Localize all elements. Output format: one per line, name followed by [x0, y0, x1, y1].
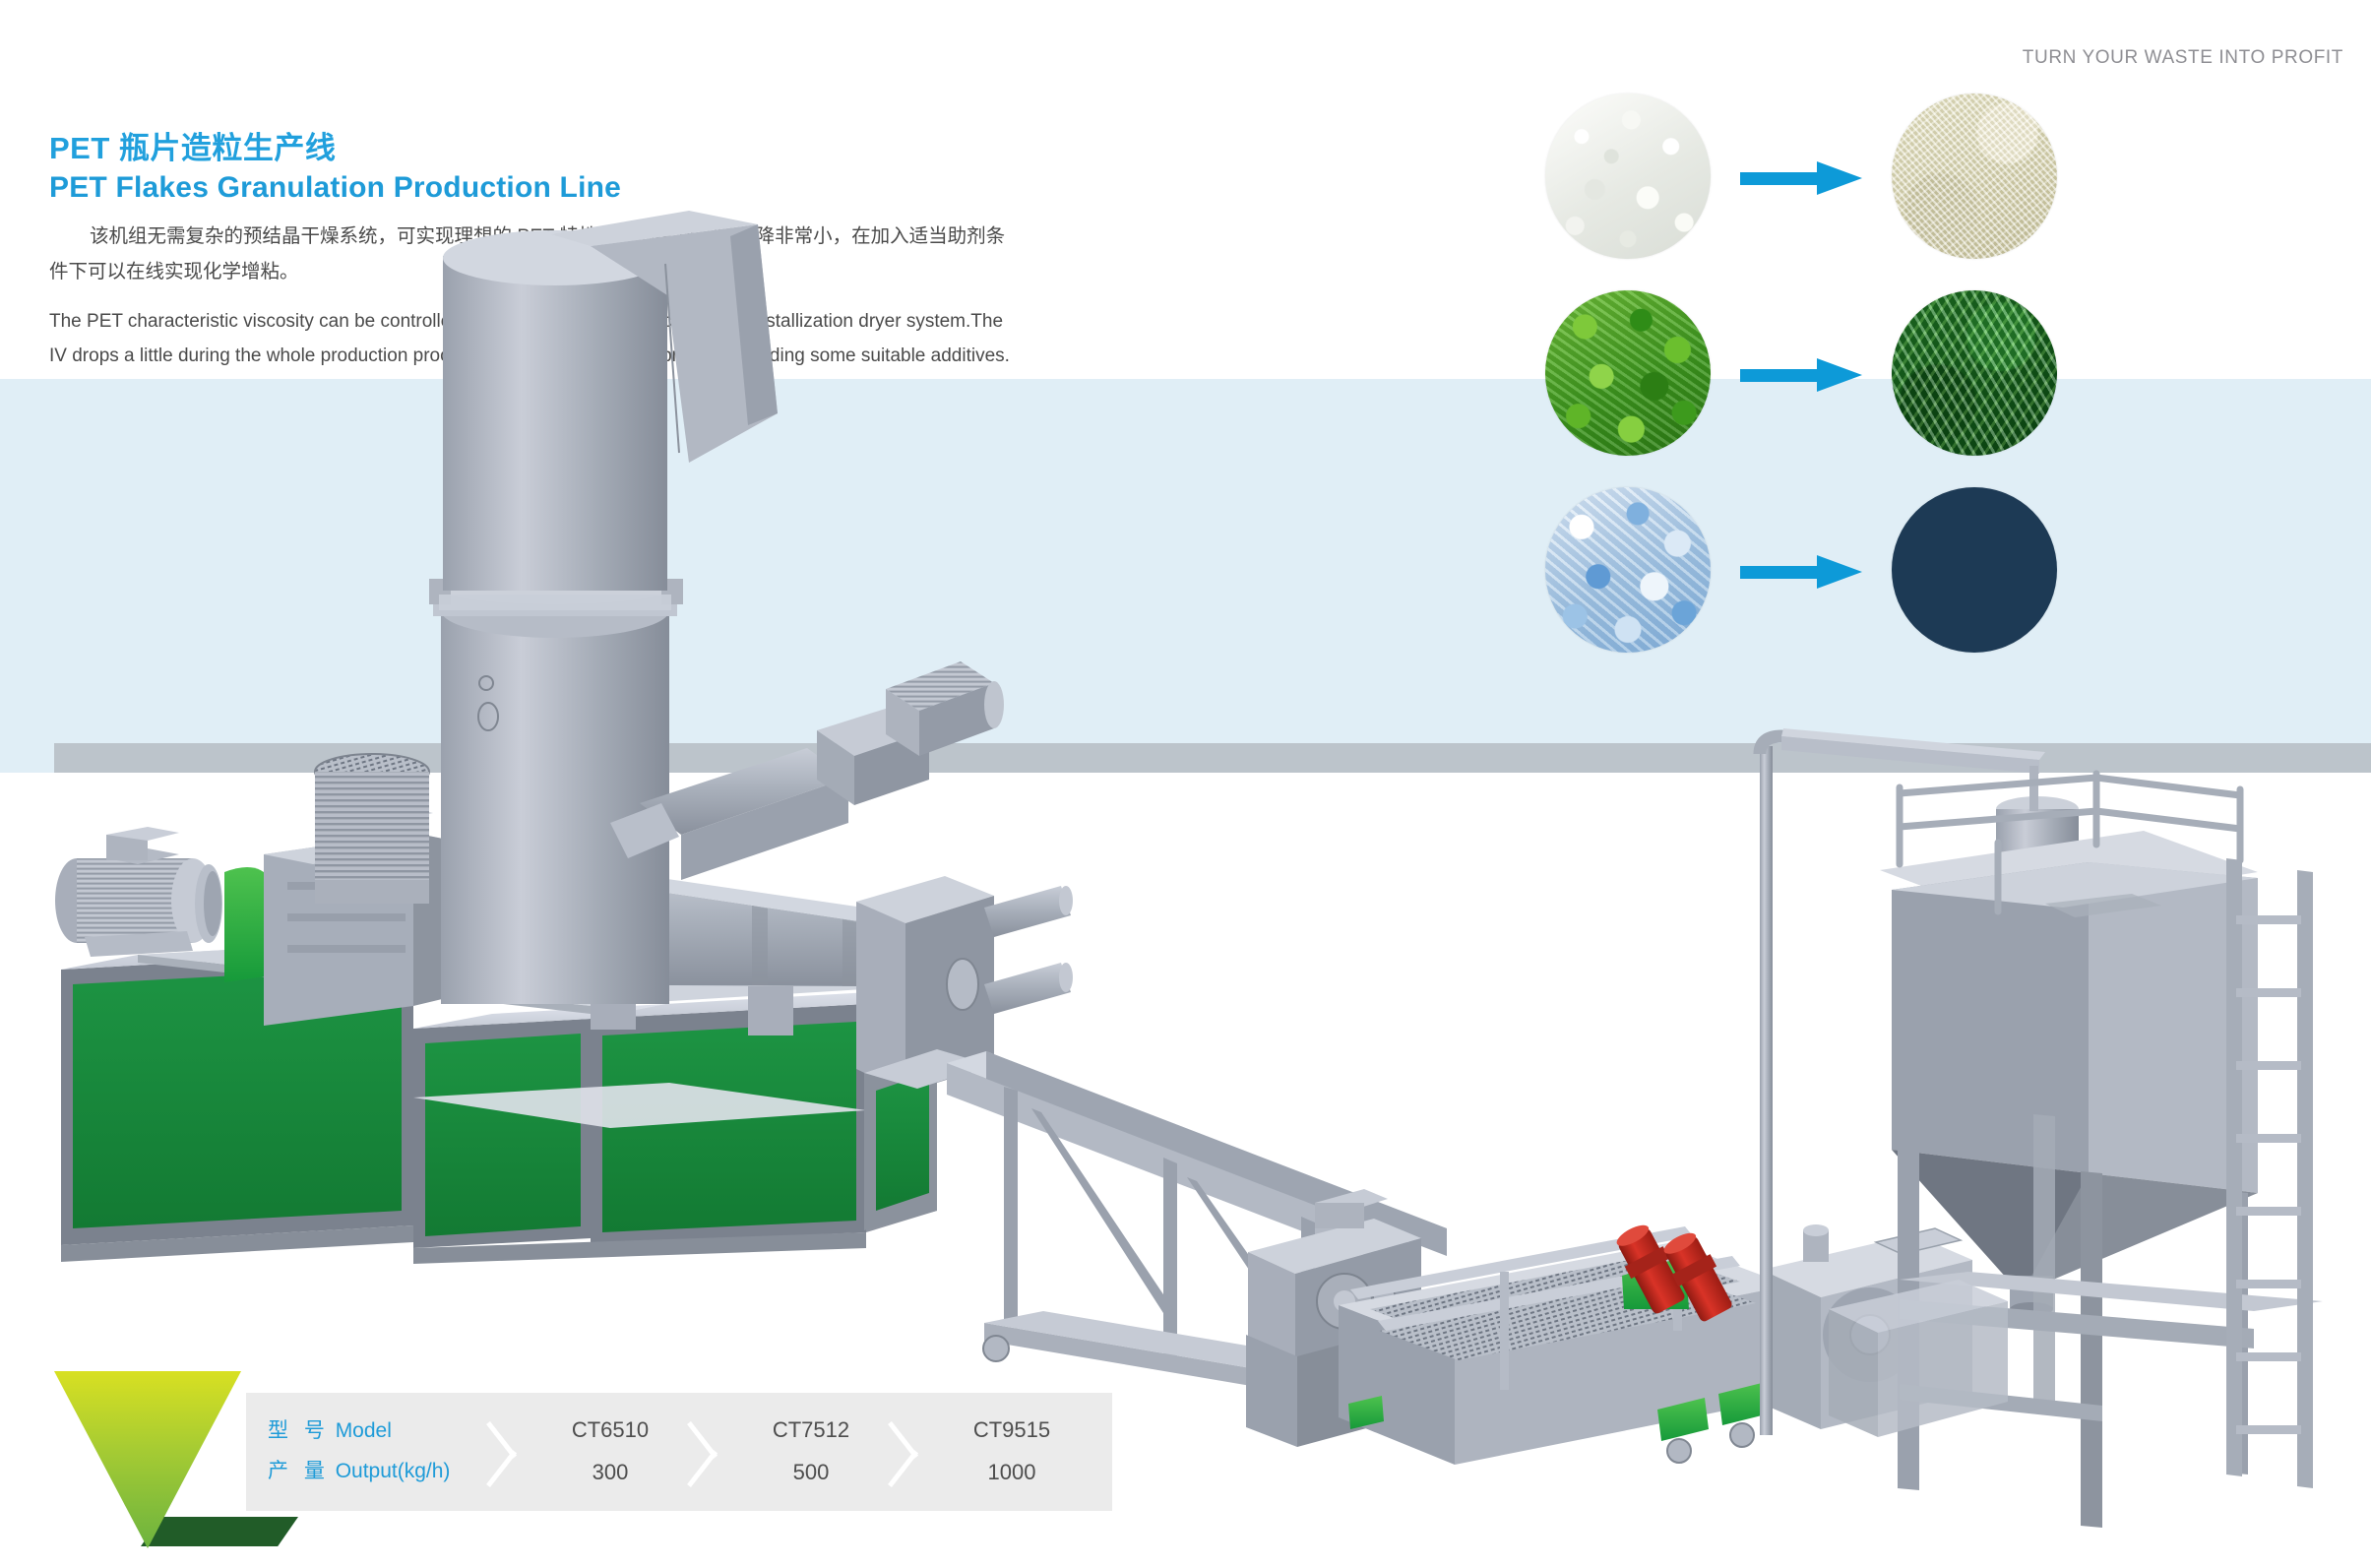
specification-table: 型 号 Model 产 量 Output(kg/h) CT6510 300 CT… — [246, 1393, 1112, 1511]
blower-unit — [1762, 1224, 1972, 1429]
material-row — [1545, 94, 2057, 261]
model-value: CT7512 — [773, 1410, 849, 1452]
arrow-shaft — [1740, 172, 1821, 185]
process-arrow-icon — [1740, 555, 1862, 589]
background-band-gray — [54, 743, 2371, 773]
page-title-en: PET Flakes Granulation Production Line — [49, 170, 1083, 207]
page-title-cn: PET 瓶片造粒生产线 — [49, 130, 1083, 167]
access-ladder — [2226, 858, 2313, 1488]
gearbox — [264, 805, 463, 1026]
green-base-frame — [61, 935, 945, 1264]
material-samples-panel — [1545, 94, 2057, 674]
coupling-guard — [224, 867, 264, 982]
material-row — [1545, 487, 2057, 655]
logo-dark-bar — [141, 1517, 298, 1546]
screen-changer — [856, 876, 1073, 1230]
spec-header-output: 产 量 Output(kg/h) — [268, 1452, 510, 1492]
hydraulic-cylinder — [984, 886, 1073, 937]
barrel-cooling-blower — [315, 754, 429, 904]
chevron-divider-icon — [911, 1393, 945, 1511]
description-cn: 该机组无需复杂的预结晶干燥系统，可实现理想的 PET 特性粘度的控制，IV 下降… — [49, 219, 1019, 289]
vibration-motors — [1610, 1220, 1737, 1325]
green-pet-pellets-photo — [1892, 290, 2057, 456]
brand-tagline: TURN YOUR WASTE INTO PROFIT — [2023, 47, 2343, 69]
model-value: CT6510 — [572, 1410, 649, 1452]
arrow-head — [1817, 161, 1862, 195]
description-en: The PET characteristic viscosity can be … — [49, 304, 1014, 373]
arrow-shaft — [1740, 566, 1821, 579]
spec-header-model-en: Model — [336, 1419, 392, 1442]
main-drive-motor — [55, 827, 222, 957]
output-value: 1000 — [988, 1452, 1036, 1494]
pelletizer — [1246, 1189, 1421, 1447]
white-pet-flakes-photo — [1545, 94, 1711, 259]
vibrating-dewatering-screen — [1339, 1220, 1789, 1465]
silo-support-legs — [1898, 1114, 2323, 1528]
material-row — [1545, 290, 2057, 458]
arrow-shaft — [1740, 369, 1821, 382]
arrow-head — [1817, 555, 1862, 589]
water-cooling-strand-conveyor — [947, 1051, 1447, 1407]
storage-silo — [1880, 831, 2258, 1316]
green-pet-flakes-photo — [1545, 290, 1711, 456]
control-cabinet — [1829, 1280, 2008, 1437]
natural-pet-pellets-photo — [1892, 94, 2057, 259]
model-value: CT9515 — [973, 1410, 1050, 1452]
process-arrow-icon — [1740, 161, 1862, 195]
chevron-divider-icon — [711, 1393, 744, 1511]
arrow-head — [1817, 358, 1862, 392]
spec-header-cell: 型 号 Model 产 量 Output(kg/h) — [246, 1393, 510, 1511]
process-arrow-icon — [1740, 358, 1862, 392]
headline-block: PET 瓶片造粒生产线 PET Flakes Granulation Produ… — [49, 130, 1083, 373]
spec-header-model: 型 号 Model — [268, 1411, 510, 1452]
output-value: 300 — [593, 1452, 629, 1494]
hydraulic-cylinder — [984, 963, 1073, 1014]
blue-pet-flakes-photo — [1545, 487, 1711, 653]
cyclone-separator — [1990, 766, 2085, 945]
pneumatic-conveying-pipe — [1760, 728, 2045, 1435]
twin-screw-extruder — [463, 856, 945, 1035]
poster-page: TURN YOUR WASTE INTO PROFIT PET 瓶片造粒生产线 … — [0, 0, 2371, 1568]
spec-row: 型 号 Model 产 量 Output(kg/h) CT6510 300 CT… — [246, 1393, 1112, 1511]
chevron-divider-icon — [510, 1393, 543, 1511]
safety-railing — [1900, 774, 2240, 911]
brand-triangle-logo — [54, 1371, 281, 1568]
output-value: 500 — [793, 1452, 830, 1494]
spec-header-output-en: Output(kg/h) — [336, 1460, 451, 1482]
blue-pet-pellets-photo — [1892, 487, 2057, 653]
